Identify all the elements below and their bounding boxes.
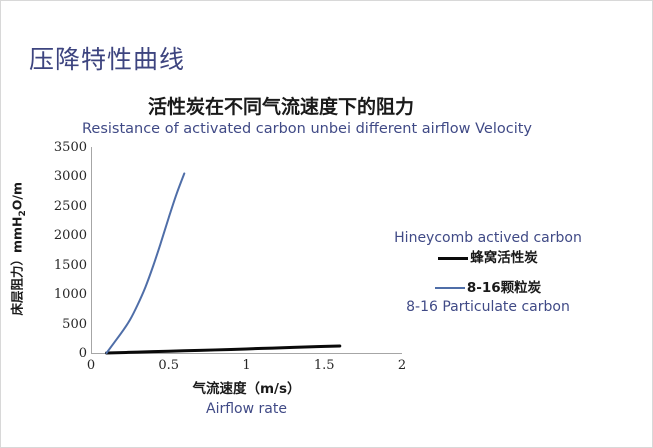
legend-label-chinese: 8-16颗粒炭	[467, 278, 541, 298]
chart-title-english: Resistance of activated carbon unbei dif…	[1, 120, 613, 138]
y-axis-title-tail: O/m	[9, 182, 24, 210]
x-axis-tick-labels: 00.511.52	[91, 359, 402, 377]
legend-item[interactable]: 蜂窝活性炭	[373, 248, 603, 268]
chart-title-chinese: 活性炭在不同气流速度下的阻力	[1, 96, 561, 118]
series-line	[107, 173, 185, 353]
y-axis-tick-labels: 0500100015002000250030003500	[35, 147, 87, 354]
x-tick-label: 0.5	[149, 359, 189, 373]
x-tick-label: 2	[382, 359, 422, 373]
series-line	[107, 346, 340, 353]
x-axis-title-english: Airflow rate	[91, 401, 402, 418]
x-tick-label: 1.5	[304, 359, 344, 373]
x-axis-title-chinese: 气流速度（m/s）	[91, 381, 402, 397]
legend-label-chinese: 蜂窝活性炭	[470, 248, 538, 268]
y-tick-label: 500	[39, 318, 87, 331]
y-axis-title-subscript: 2	[18, 210, 28, 216]
y-tick-label: 3500	[39, 141, 87, 154]
y-axis-line	[91, 147, 92, 354]
y-axis-title-main: 床层阻力）mmH	[9, 216, 24, 315]
y-tick-label: 3000	[39, 170, 87, 183]
legend-swatch-icon	[435, 287, 465, 289]
x-tick-label: 1	[227, 359, 267, 373]
y-tick-label: 2500	[39, 200, 87, 213]
legend-spacer	[373, 268, 603, 278]
chart-legend: Hineycomb actived carbon蜂窝活性炭8-16颗粒炭8-16…	[373, 229, 603, 317]
y-tick-label: 1500	[39, 259, 87, 272]
y-tick-label: 2000	[39, 229, 87, 242]
slide-canvas: 压降特性曲线 活性炭在不同气流速度下的阻力 Resistance of acti…	[0, 0, 653, 448]
legend-label-english: Hineycomb actived carbon	[373, 229, 603, 248]
x-tick-label: 0	[71, 359, 111, 373]
y-tick-label: 1000	[39, 288, 87, 301]
legend-swatch-icon	[438, 257, 468, 260]
legend-label-english: 8-16 Particulate carbon	[373, 298, 603, 317]
chart-figure: 活性炭在不同气流速度下的阻力 Resistance of activated c…	[1, 1, 653, 448]
x-axis-line	[91, 353, 402, 354]
y-axis-title: 床层阻力）mmH2O/m	[10, 164, 30, 334]
legend-item[interactable]: 8-16颗粒炭	[373, 278, 603, 298]
